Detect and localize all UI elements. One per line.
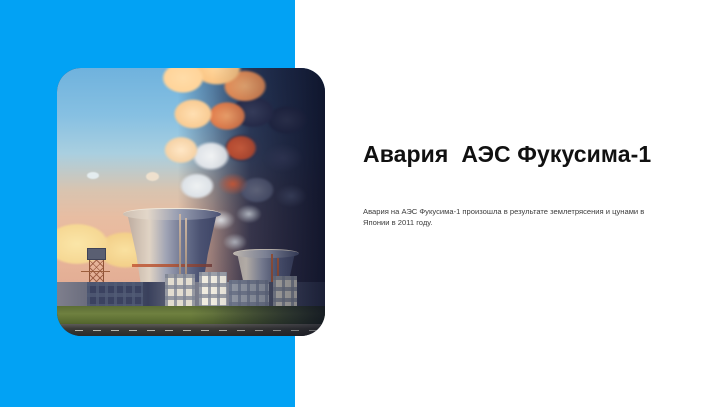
window-grid xyxy=(273,276,297,308)
text-column: Авария АЭС Фукусима-1 Авария на АЭС Фуку… xyxy=(363,0,683,407)
transmission-pylon-arm xyxy=(81,271,110,272)
cloud-wisp-left-icon xyxy=(87,172,99,179)
illustration-card xyxy=(57,68,325,336)
transmission-pylon-head xyxy=(87,248,106,260)
slide-canvas: Авария АЭС Фукусима-1 Авария на АЭС Фуку… xyxy=(0,0,724,407)
cooling-tower-small-rim xyxy=(233,249,299,258)
road-center-line xyxy=(57,330,325,331)
page-title: Авария АЭС Фукусима-1 xyxy=(363,140,683,168)
cooling-tower-large-rim xyxy=(123,208,221,220)
window-grid xyxy=(199,272,227,308)
orange-steam-plume xyxy=(141,68,291,222)
body-paragraph: Авария на АЭС Фукусима-1 произошла в рез… xyxy=(363,206,665,229)
plant-building xyxy=(165,274,195,308)
cooling-tower-large-band xyxy=(132,264,212,267)
plant-building xyxy=(87,282,143,306)
plant-building xyxy=(229,280,269,308)
nuclear-plant-illustration xyxy=(57,68,325,336)
plant-building xyxy=(199,272,227,308)
window-grid xyxy=(87,282,143,306)
window-grid xyxy=(165,274,195,308)
plant-building xyxy=(273,276,297,308)
window-grid xyxy=(229,280,269,308)
